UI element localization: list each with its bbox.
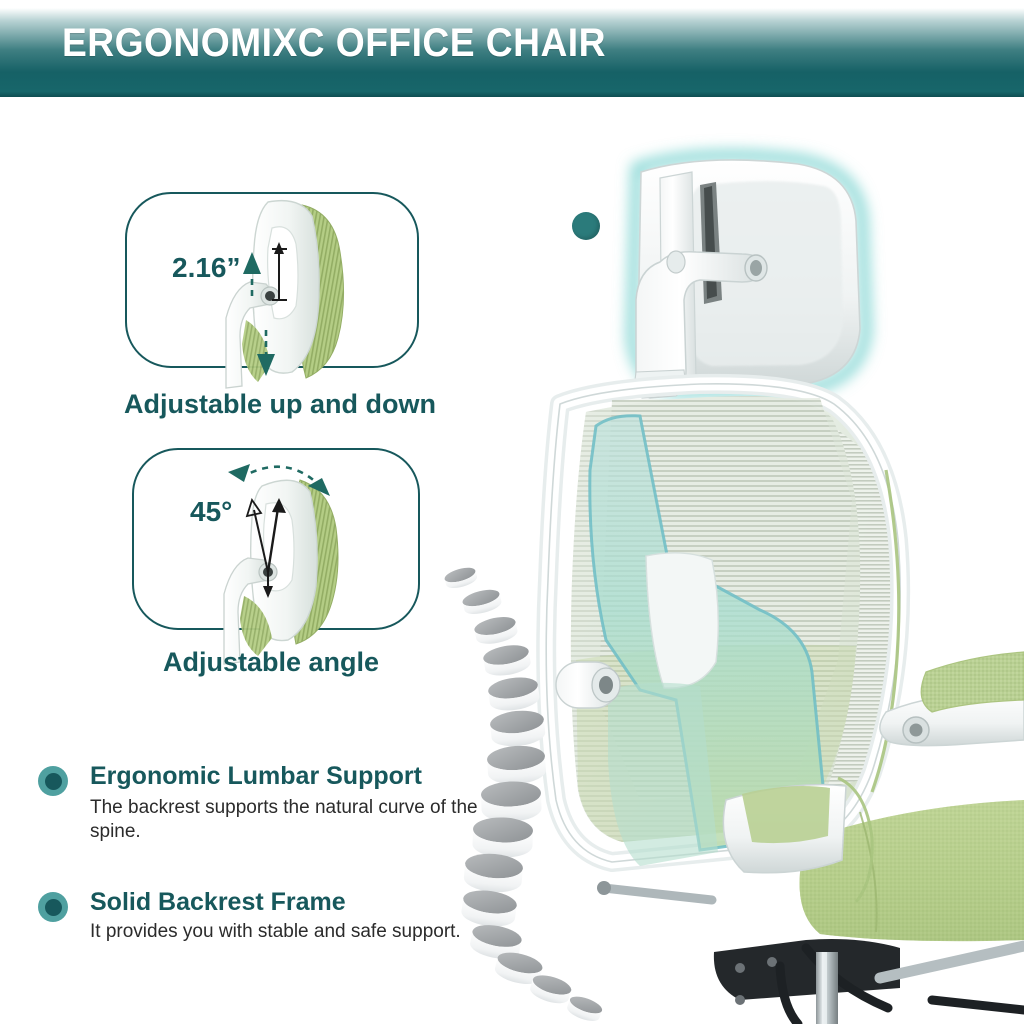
spine-disc: [461, 587, 503, 618]
headrest-support-arm: ERGO: [634, 251, 767, 398]
spine-disc: [473, 614, 519, 647]
headrest-glow: [632, 156, 866, 393]
spine-disc: [463, 852, 524, 895]
feature-heading: Solid Backrest Frame: [90, 888, 346, 917]
callout-box-adjustable-up-down: [125, 192, 419, 368]
measurement-label-angle: 45°: [190, 496, 232, 528]
seat-cushion: [723, 778, 1024, 941]
page-title: ERGONOMIXC OFFICE CHAIR: [62, 21, 606, 66]
spine-disc: [486, 744, 547, 786]
feature-body: The backrest supports the natural curve …: [90, 796, 510, 845]
gas-cylinder: [816, 952, 838, 1024]
callout-box-adjustable-angle: [132, 448, 420, 630]
tilt-mechanism: [714, 939, 900, 1024]
measurement-label-up-down: 2.16”: [172, 252, 241, 284]
bullet-dot-icon: [38, 766, 68, 796]
caption-adjustable-up-down: Adjustable up and down: [124, 389, 436, 420]
feature-body: It provides you with stable and safe sup…: [90, 920, 510, 944]
product-marker-dot: [572, 212, 600, 240]
spine-disc: [487, 675, 541, 714]
lumbar-support-frame: [590, 416, 824, 866]
spine-disc: [489, 708, 546, 748]
chair-base-arms: [597, 881, 1024, 1010]
spine-disc: [493, 949, 545, 988]
infographic-canvas: ERGONOMIXC OFFICE CHAIR: [0, 0, 1024, 1024]
spine-disc: [482, 642, 532, 679]
spine-disc: [443, 565, 479, 591]
armrest: [880, 652, 1024, 746]
bullet-dot-icon: [38, 892, 68, 922]
spine-disc: [528, 972, 574, 1008]
backrest-frame: [546, 384, 920, 862]
svg-text:ERGO: ERGO: [644, 377, 675, 387]
backrest-mesh: [540, 380, 940, 860]
backrest-pivot-knob: [556, 662, 620, 708]
caption-adjustable-angle: Adjustable angle: [163, 647, 379, 678]
headrest: [638, 160, 860, 387]
spine-disc: [565, 993, 604, 1024]
feature-heading: Ergonomic Lumbar Support: [90, 762, 422, 791]
